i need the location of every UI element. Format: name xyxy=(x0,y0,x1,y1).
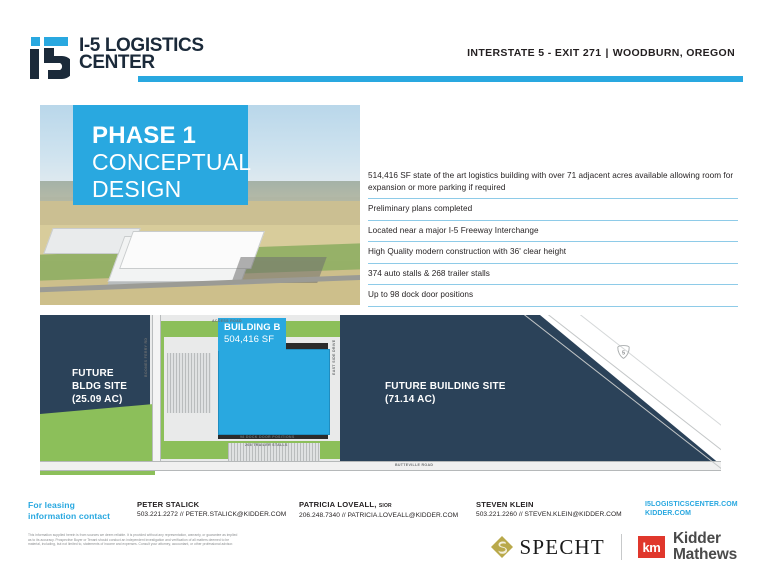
feature-item: Located near a major I-5 Freeway Interch… xyxy=(368,221,738,243)
header-location: INTERSTATE 5 - EXIT 271|WOODBURN, OREGON xyxy=(467,47,735,59)
building-b-name: BUILDING B xyxy=(224,322,286,334)
road-label-access: ACCESS ROAD xyxy=(212,319,242,323)
auto-parking-stalls xyxy=(167,353,211,413)
phase-line-3: DESIGN xyxy=(92,176,248,203)
page-header: I-5 LOGISTICS CENTER INTERSTATE 5 - EXIT… xyxy=(0,0,761,96)
building-b-footprint xyxy=(218,349,330,435)
interstate-5-shield-icon: 5 xyxy=(617,345,630,359)
header-location-city: WOODBURN, OREGON xyxy=(613,47,735,59)
brand-logo: I-5 LOGISTICS CENTER xyxy=(28,35,204,81)
link-project-site[interactable]: I5LOGISTICSCENTER.COM xyxy=(645,500,738,509)
contact-name: PETER STALICK xyxy=(137,500,286,510)
left-parcel-acreage: (25.09 AC) xyxy=(72,393,127,406)
specht-logo: SPECHT xyxy=(491,535,605,560)
brochure-page: I-5 LOGISTICS CENTER INTERSTATE 5 - EXIT… xyxy=(0,0,761,588)
contact-name: PATRICIA LOVEALL, SIOR xyxy=(299,500,458,511)
phase-callout: PHASE 1 CONCEPTUAL DESIGN xyxy=(73,105,248,205)
header-location-separator: | xyxy=(601,47,612,59)
boones-ferry-road xyxy=(152,315,161,467)
map-label-dock-doors: 98 DOCK DOOR POSITIONS xyxy=(240,435,295,439)
contact-details[interactable]: 206.248.7340 // PATRICIA.LOVEALL@KIDDER.… xyxy=(299,511,458,521)
right-parcel-title: FUTURE BUILDING SITE xyxy=(385,380,506,393)
legal-disclaimer: This information supplied herein is from… xyxy=(28,533,238,547)
specht-mark-icon xyxy=(491,536,513,558)
right-parcel-acreage: (71.14 AC) xyxy=(385,393,506,406)
brand-title-line2: CENTER xyxy=(79,54,204,71)
link-kidder-site[interactable]: KIDDER.COM xyxy=(645,509,738,518)
feature-item: High Quality modern construction with 36… xyxy=(368,242,738,264)
phase-line-1: PHASE 1 xyxy=(92,123,248,149)
leasing-heading-line1: For leasing xyxy=(28,500,128,511)
specht-wordmark: SPECHT xyxy=(520,535,605,560)
website-links: I5LOGISTICSCENTER.COM KIDDER.COM xyxy=(645,500,738,518)
left-parcel-line2: BLDG SITE xyxy=(72,380,127,393)
contact-name-suffix: SIOR xyxy=(379,503,392,509)
interstate-5-corridor xyxy=(517,315,721,475)
contact-patricia-loveall: PATRICIA LOVEALL, SIOR 206.248.7340 // P… xyxy=(299,500,458,521)
feature-item: Up to 98 dock door positions xyxy=(368,285,738,307)
site-plan-map: 5 FUTURE BLDG SITE (25.09 AC) FUTURE BUI… xyxy=(40,315,721,475)
contact-details[interactable]: 503.221.2260 // STEVEN.KLEIN@KIDDER.COM xyxy=(476,510,622,520)
road-label-boones-ferry: BOONES FERRY RD xyxy=(144,338,148,377)
left-parcel-line1: FUTURE xyxy=(72,367,127,380)
building-b-size: 504,416 SF xyxy=(224,334,286,346)
feature-item: 514,416 SF state of the art logistics bu… xyxy=(368,166,738,199)
kidder-mathews-logo: km Kidder Mathews xyxy=(638,531,737,563)
km-wordmark-line1: Kidder xyxy=(673,531,737,547)
i5-logo-icon xyxy=(28,35,70,81)
feature-item: Preliminary plans completed xyxy=(368,199,738,221)
contact-name: STEVEN KLEIN xyxy=(476,500,622,510)
logo-divider xyxy=(621,534,622,560)
contact-steven-klein: STEVEN KLEIN 503.221.2260 // STEVEN.KLEI… xyxy=(476,500,622,520)
kidder-mathews-wordmark: Kidder Mathews xyxy=(673,531,737,563)
contact-name-text: PATRICIA LOVEALL, xyxy=(299,500,377,509)
km-wordmark-line2: Mathews xyxy=(673,547,737,563)
road-label-east-side: EAST SIDE DRIVE xyxy=(332,340,336,375)
svg-text:5: 5 xyxy=(622,351,625,357)
right-parcel-label: FUTURE BUILDING SITE (71.14 AC) xyxy=(385,380,506,406)
partner-logos: SPECHT km Kidder Mathews xyxy=(491,530,737,564)
contact-details[interactable]: 503.221.2272 // PETER.STALICK@KIDDER.COM xyxy=(137,510,286,520)
header-accent-rule xyxy=(138,76,743,82)
brand-title: I-5 LOGISTICS CENTER xyxy=(79,35,204,71)
map-label-trailer-stalls: 268 TRAILER STALLS xyxy=(245,443,288,447)
feature-item: 374 auto stalls & 268 trailer stalls xyxy=(368,264,738,286)
km-monogram-icon: km xyxy=(638,536,665,558)
feature-list: 514,416 SF state of the art logistics bu… xyxy=(368,166,738,307)
leasing-contact-heading: For leasing information contact xyxy=(28,500,128,521)
header-location-interstate: INTERSTATE 5 - EXIT 271 xyxy=(467,47,601,59)
road-label-butteville: BUTTEVILLE ROAD xyxy=(395,463,433,467)
contact-peter-stalick: PETER STALICK 503.221.2272 // PETER.STAL… xyxy=(137,500,286,520)
left-parcel-label: FUTURE BLDG SITE (25.09 AC) xyxy=(72,367,127,406)
leasing-heading-line2: information contact xyxy=(28,511,128,522)
phase-line-2: CONCEPTUAL xyxy=(92,149,248,176)
